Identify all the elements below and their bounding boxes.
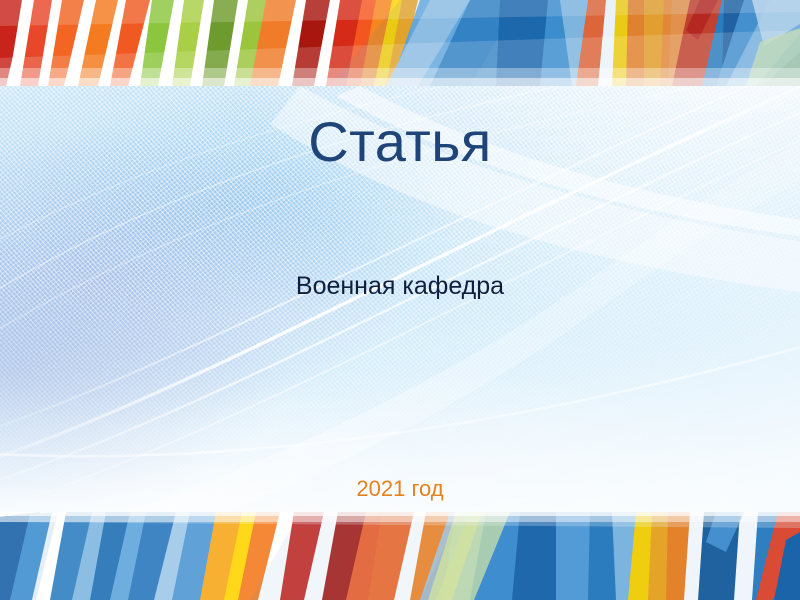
bottom-band-graphic [0,512,800,600]
slide-subtitle: Военная кафедра [0,272,800,301]
presentation-slide: Статья Военная кафедра 2021 год [0,0,800,600]
slide-title: Статья [0,112,800,172]
bottom-decorative-band [0,512,800,600]
slide-year-text: 2021 год [0,476,800,502]
top-band-graphic [0,0,800,86]
top-decorative-band [0,0,800,86]
